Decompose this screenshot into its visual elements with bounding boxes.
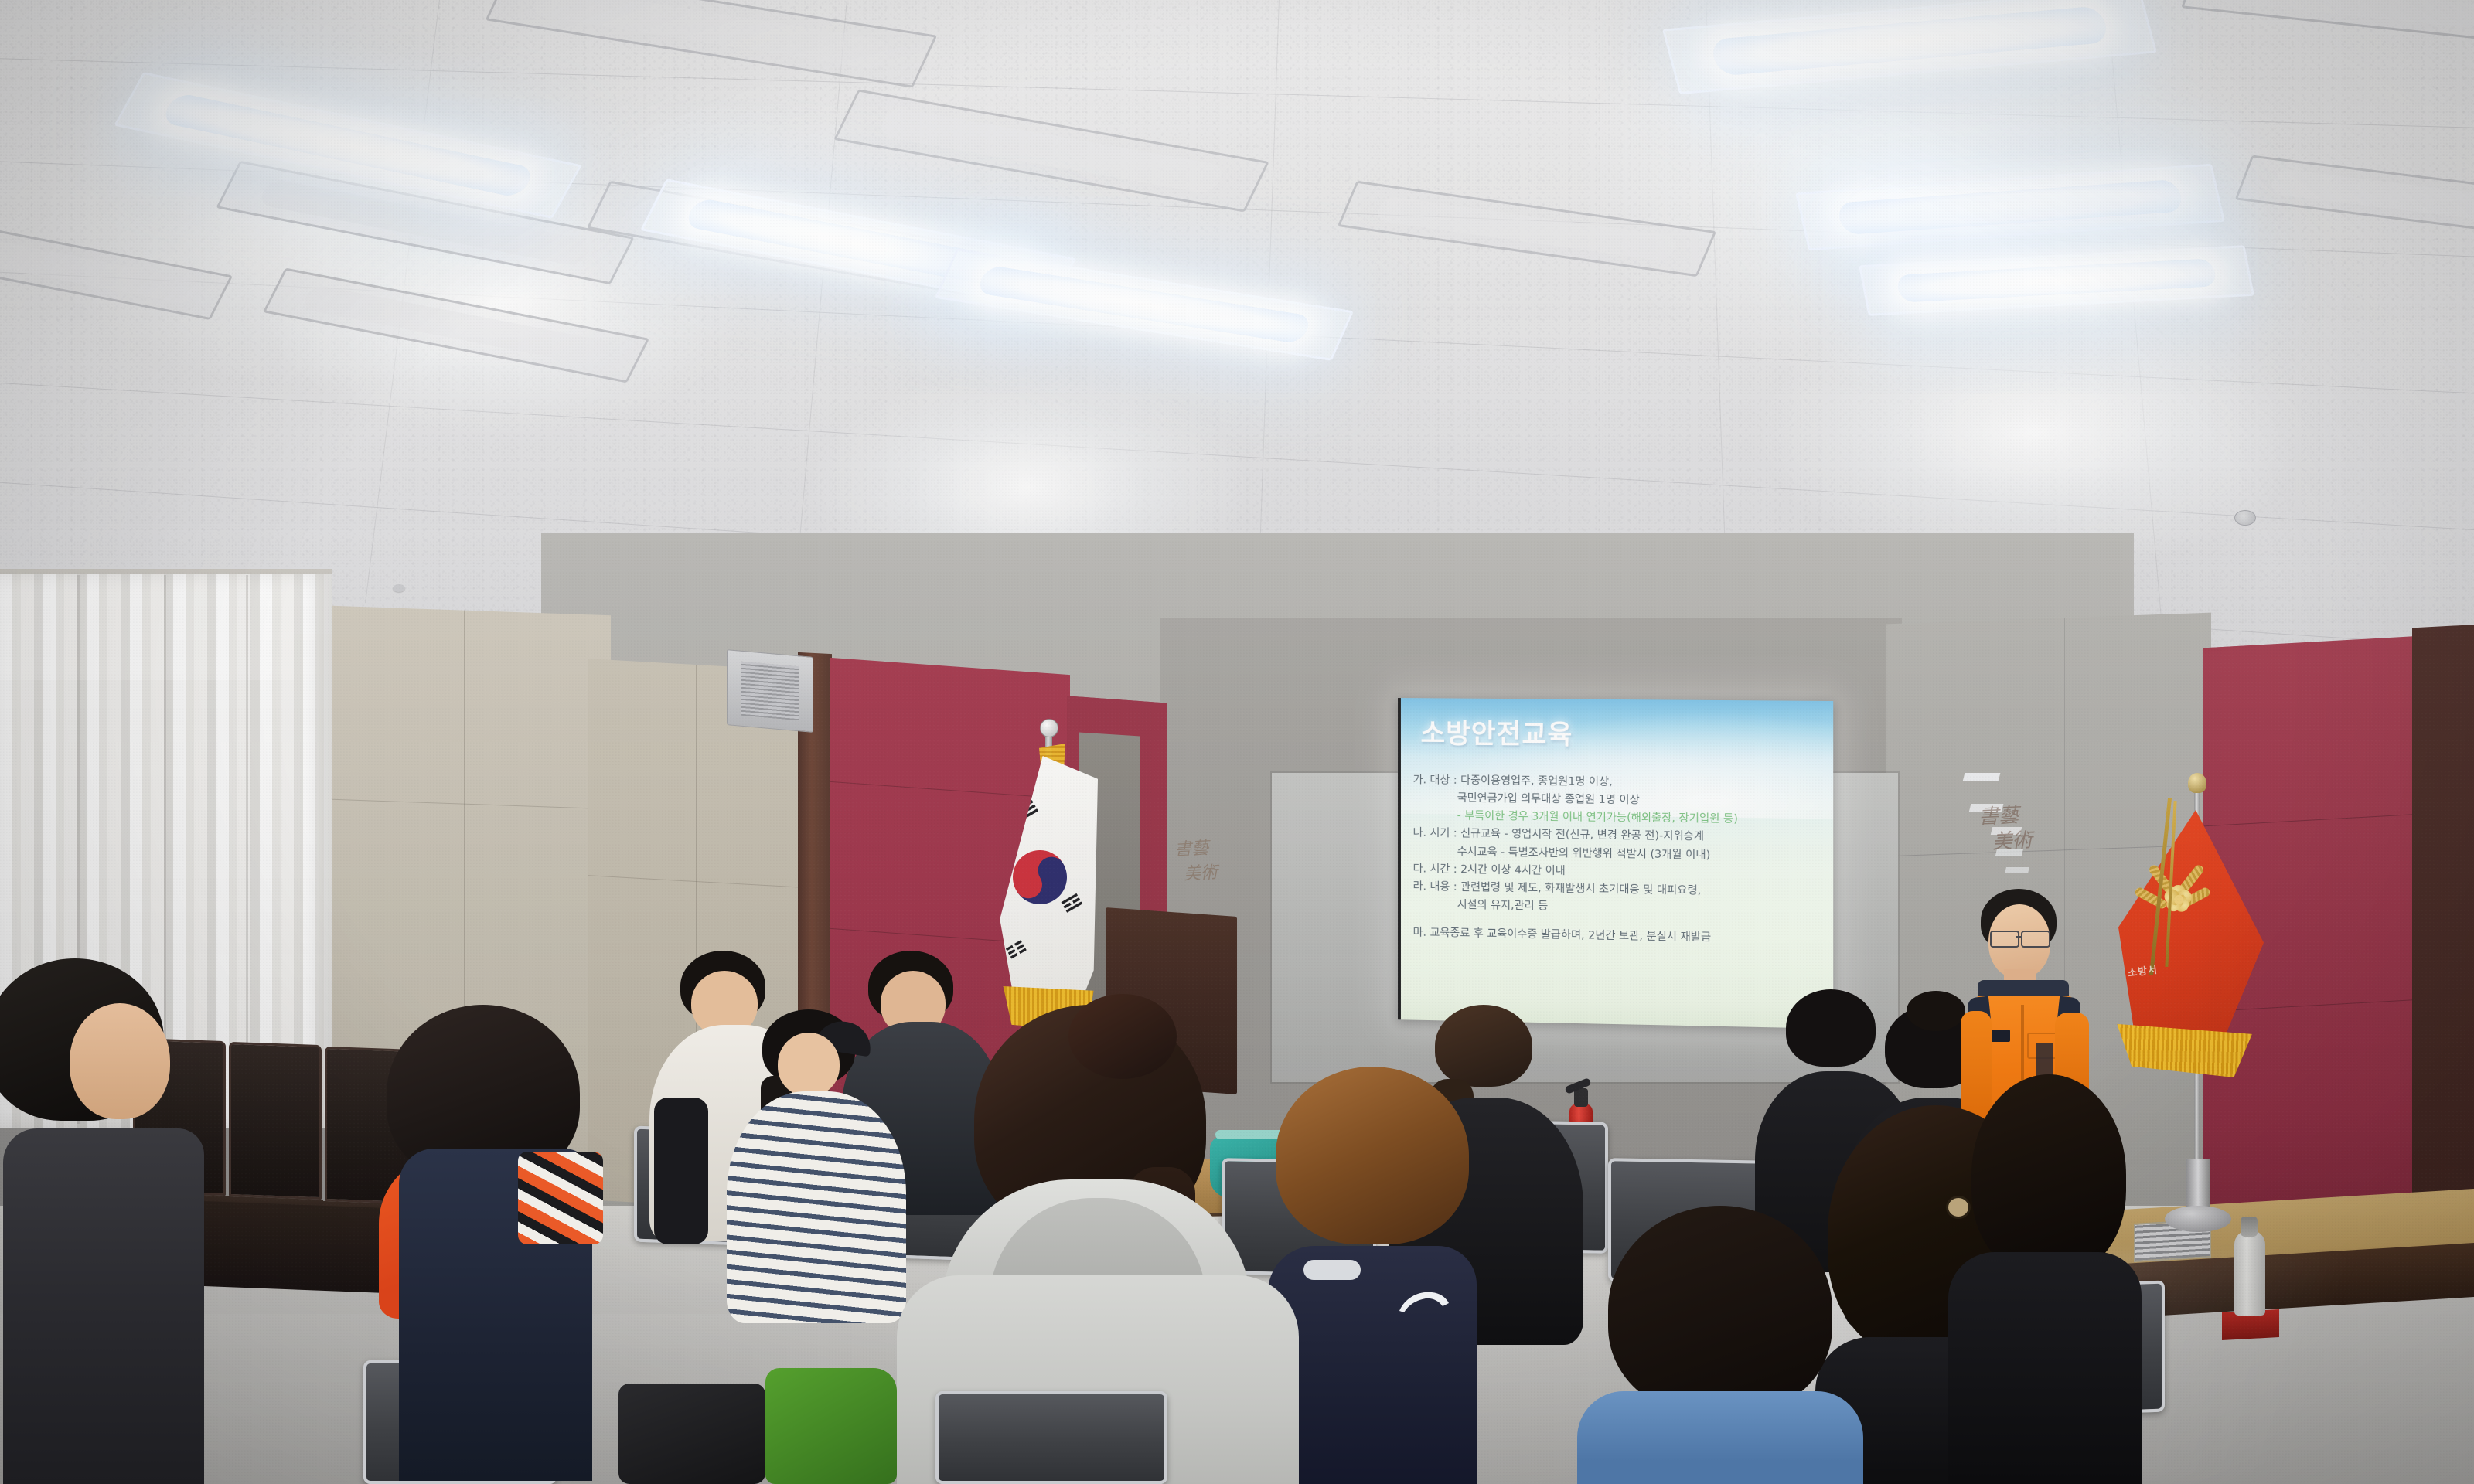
ceiling-fitting xyxy=(393,584,405,592)
curtain-fold xyxy=(246,575,248,1108)
mugunghwa-emblem-icon xyxy=(2142,864,2213,931)
trigram-gam xyxy=(1061,893,1083,914)
slide-line: 마. 교육종료 후 교육이수증 발급하며, 2년간 보관, 분실시 재발급 xyxy=(1413,924,1827,949)
attendee-blue-denim-shirt xyxy=(1562,1206,1871,1484)
wooden-chair[interactable] xyxy=(229,1042,322,1200)
attendee-body xyxy=(3,1128,204,1484)
smoke-detector-icon xyxy=(2234,510,2256,526)
flag-stand xyxy=(2186,1159,2210,1210)
attendee-body xyxy=(1948,1252,2142,1484)
jacket-collar xyxy=(1303,1260,1361,1280)
presentation-slide: 소방안전교육 가. 대상 : 다중이용영업주, 종업원1명 이상, 국민연금가입… xyxy=(1398,698,1833,1029)
attendee-navy-top-left xyxy=(363,1005,618,1484)
attendee-far-right-foreground xyxy=(1964,1074,2149,1484)
eyeglasses-bridge xyxy=(2016,936,2022,938)
curtain-rod xyxy=(0,569,332,574)
attendee-scarf xyxy=(518,1152,603,1244)
wall-calligraphy: 書藝 美術 xyxy=(1978,803,2033,856)
slide-body: 가. 대상 : 다중이용영업주, 종업원1명 이상, 국민연금가입 의무대상 종… xyxy=(1413,771,1827,949)
attendee-arm xyxy=(654,1098,708,1244)
flag-base xyxy=(2165,1206,2231,1232)
wall-calligraphy-left: 書藝 美術 xyxy=(1174,834,1218,886)
wall-speaker xyxy=(727,649,813,733)
fire-extinguisher-white xyxy=(2234,1230,2265,1316)
eyeglasses-icon xyxy=(1990,931,2019,948)
eyeglasses-icon xyxy=(2021,931,2050,948)
flag-finial-korean xyxy=(1040,719,1058,737)
flag-finial-organization xyxy=(2188,773,2206,793)
slide-title: 소방안전교육 xyxy=(1420,712,1573,752)
fire-extinguisher-valve xyxy=(2241,1217,2258,1237)
attendee-front-left-black-top xyxy=(0,958,232,1484)
attendee-hair-bun xyxy=(1068,994,1177,1079)
trigram-gon xyxy=(1006,940,1027,961)
puma-logo-icon xyxy=(1398,1288,1450,1314)
wall-light-reflection xyxy=(1963,773,2001,781)
attendee-body xyxy=(1577,1391,1863,1484)
bag-black xyxy=(618,1384,765,1484)
photo-scene: 書藝 美術 書藝 美術 소방안전교육 가. 대상 : 다중이용영업주, 종업원1… xyxy=(0,0,2474,1484)
folding-chair[interactable] xyxy=(935,1391,1167,1484)
wall-light-reflection xyxy=(2005,867,2029,873)
